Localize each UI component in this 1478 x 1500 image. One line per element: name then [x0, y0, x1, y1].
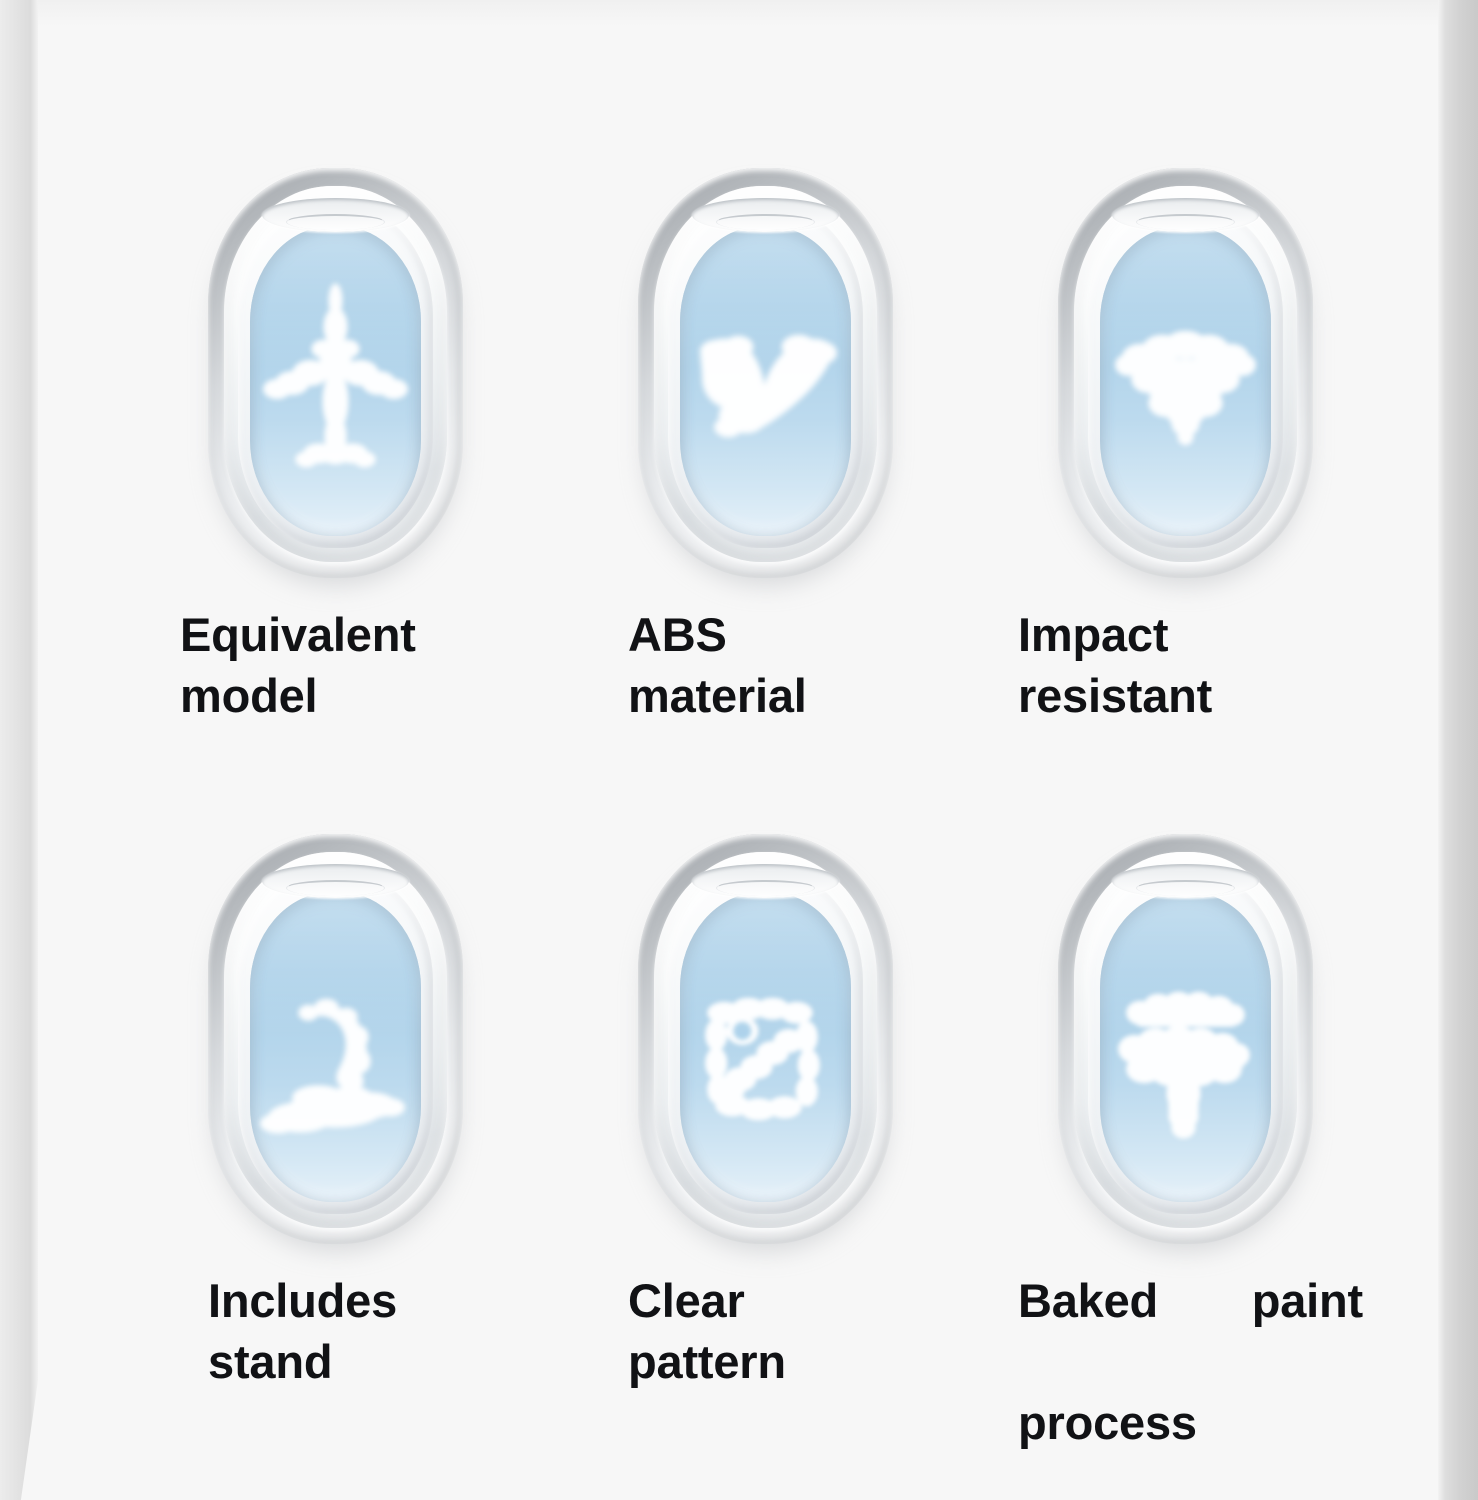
feature-card-impact-resistant: Impact resistant [1000, 168, 1390, 726]
airplane-window-frame [638, 834, 893, 1244]
feature-card-includes-stand: Includes stand [150, 834, 580, 1453]
feature-card-abs-material: ABS material [580, 168, 1000, 726]
rocket-trail-cloud-icon [250, 892, 421, 1202]
window-shade-line [1136, 214, 1235, 230]
window-sky-pane [680, 226, 851, 536]
window-sky-pane [680, 892, 851, 1202]
page-left-edge-band [0, 0, 38, 1500]
picture-frame-cloud-icon [680, 892, 851, 1202]
window-sky-pane [1100, 892, 1271, 1202]
window-sky-pane [1100, 226, 1271, 536]
window-sky-pane [250, 226, 421, 536]
airplane-cloud-icon [250, 226, 421, 536]
airplane-window-frame [638, 168, 893, 578]
feature-card-baked-paint-process: Baked paint process [1000, 834, 1390, 1453]
feature-label-equivalent-model: Equivalent model [150, 604, 552, 726]
mushroom-tree-cloud-icon [1100, 892, 1271, 1202]
diamond-cloud-icon [1100, 226, 1271, 536]
dove-cloud-icon [680, 226, 851, 536]
page-right-edge-band [1438, 0, 1478, 1500]
window-shade-line [716, 214, 815, 230]
feature-grid: Equivalent model [150, 168, 1390, 1453]
airplane-window-frame [1058, 168, 1313, 578]
airplane-window-frame [208, 168, 463, 578]
feature-label-includes-stand: Includes stand [150, 1270, 580, 1392]
product-feature-page: Equivalent model [0, 0, 1478, 1500]
feature-card-equivalent-model: Equivalent model [150, 168, 580, 726]
feature-label-abs-material: ABS material [580, 604, 1000, 726]
window-sky-pane [250, 892, 421, 1202]
page-top-edge [38, 0, 1438, 26]
airplane-window-frame [208, 834, 463, 1244]
window-shade-line [286, 214, 385, 230]
label-word-baked: Baked [1018, 1274, 1158, 1327]
feature-label-baked-paint-process: Baked paint process [1000, 1270, 1363, 1453]
feature-label-clear-pattern: Clear pattern [580, 1270, 1000, 1392]
feature-label-impact-resistant: Impact resistant [1000, 604, 1390, 726]
airplane-window-frame [1058, 834, 1313, 1244]
feature-card-clear-pattern: Clear pattern [580, 834, 1000, 1453]
label-word-paint: paint [1252, 1274, 1363, 1327]
